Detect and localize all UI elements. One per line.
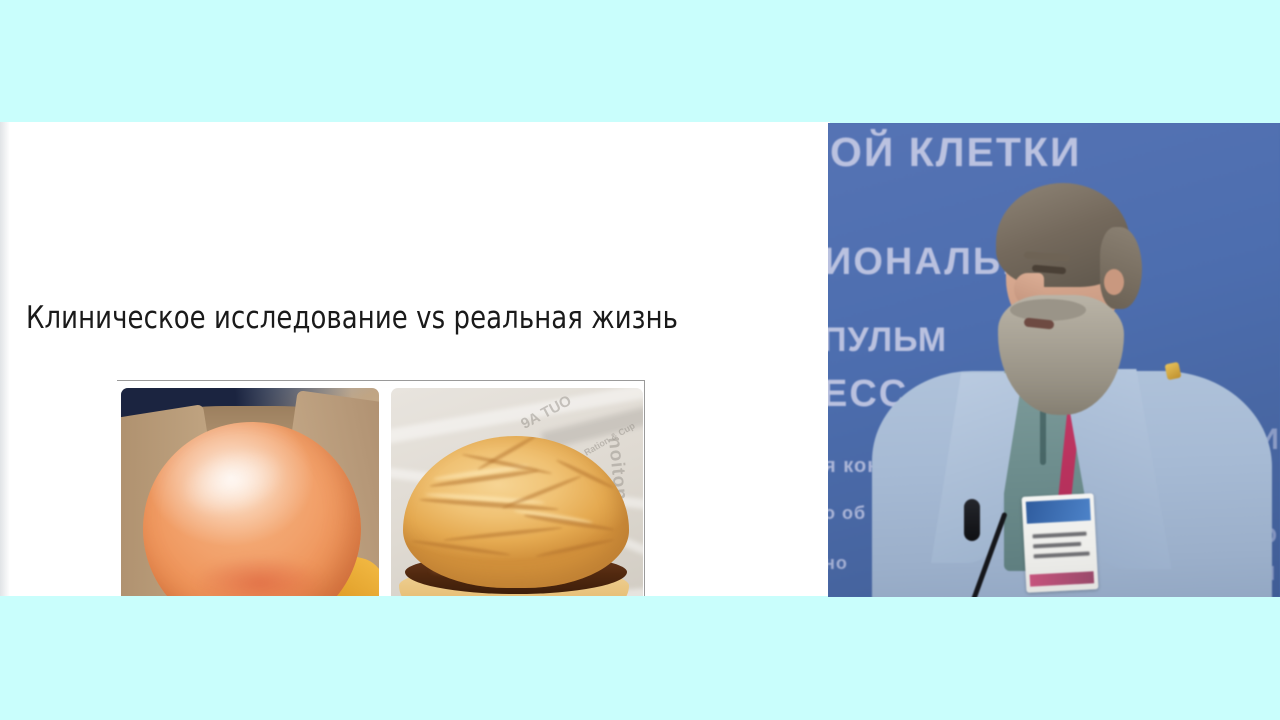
letterbox-band-bottom bbox=[0, 596, 1280, 720]
speaker-mustache bbox=[1010, 299, 1086, 321]
burger-comparison-figure: 9A TUO Ration & Cup noiton Pleas eat bbox=[117, 380, 645, 596]
speaker-ear bbox=[1104, 269, 1124, 295]
real-top-bun bbox=[403, 436, 629, 588]
badge-text-line-3 bbox=[1034, 551, 1090, 558]
badge-footer bbox=[1030, 571, 1095, 586]
ad-photo-scene bbox=[121, 388, 379, 596]
speaker-video-frame: ОЙ КЛЕТКИ ИОНАЛЬНЫЙ ПУЛЬМ ОЛОГИ ЕСС я ко… bbox=[828, 123, 1280, 597]
ad-bun-specular-highlight bbox=[172, 436, 293, 527]
badge-header bbox=[1026, 498, 1091, 523]
speaker-video-panel[interactable]: ОЙ КЛЕТКИ ИОНАЛЬНЫЙ ПУЛЬМ ОЛОГИ ЕСС я ко… bbox=[828, 123, 1280, 597]
backdrop-text-line-8: но bbox=[828, 553, 848, 574]
real-photo-scene: 9A TUO Ration & Cup noiton Pleas eat bbox=[391, 388, 643, 596]
real-life-burger-photo: 9A TUO Ration & Cup noiton Pleas eat bbox=[391, 388, 643, 596]
letterbox-band-top bbox=[0, 0, 1280, 122]
speaker-hair-side bbox=[1100, 227, 1142, 309]
badge-text-line-2 bbox=[1033, 542, 1081, 549]
bun-wrinkle-10 bbox=[535, 538, 614, 559]
ad-bun-blush bbox=[195, 556, 325, 596]
screen-canvas: Клиническое исследование vs реальная жиз… bbox=[0, 0, 1280, 720]
speaker-lapel-pin bbox=[1164, 362, 1181, 381]
microphone-head bbox=[964, 499, 980, 541]
clinical-trial-burger-photo bbox=[121, 388, 379, 596]
bun-wrinkle-6 bbox=[443, 526, 563, 543]
backdrop-text-line-1: ОЙ КЛЕТКИ bbox=[830, 129, 1081, 176]
slide-title: Клиническое исследование vs реальная жиз… bbox=[26, 300, 751, 336]
photo-divider-gap bbox=[379, 381, 391, 596]
backdrop-text-line-7: о об bbox=[828, 503, 866, 524]
backdrop-text-line-3: ПУЛЬМ bbox=[828, 321, 947, 360]
speaker-conference-badge bbox=[1022, 493, 1099, 593]
presentation-slide: Клиническое исследование vs реальная жиз… bbox=[0, 122, 830, 596]
badge-text-line-1 bbox=[1033, 532, 1087, 539]
bun-wrinkle-9 bbox=[411, 539, 511, 557]
bun-wrinkle-4 bbox=[501, 474, 582, 510]
